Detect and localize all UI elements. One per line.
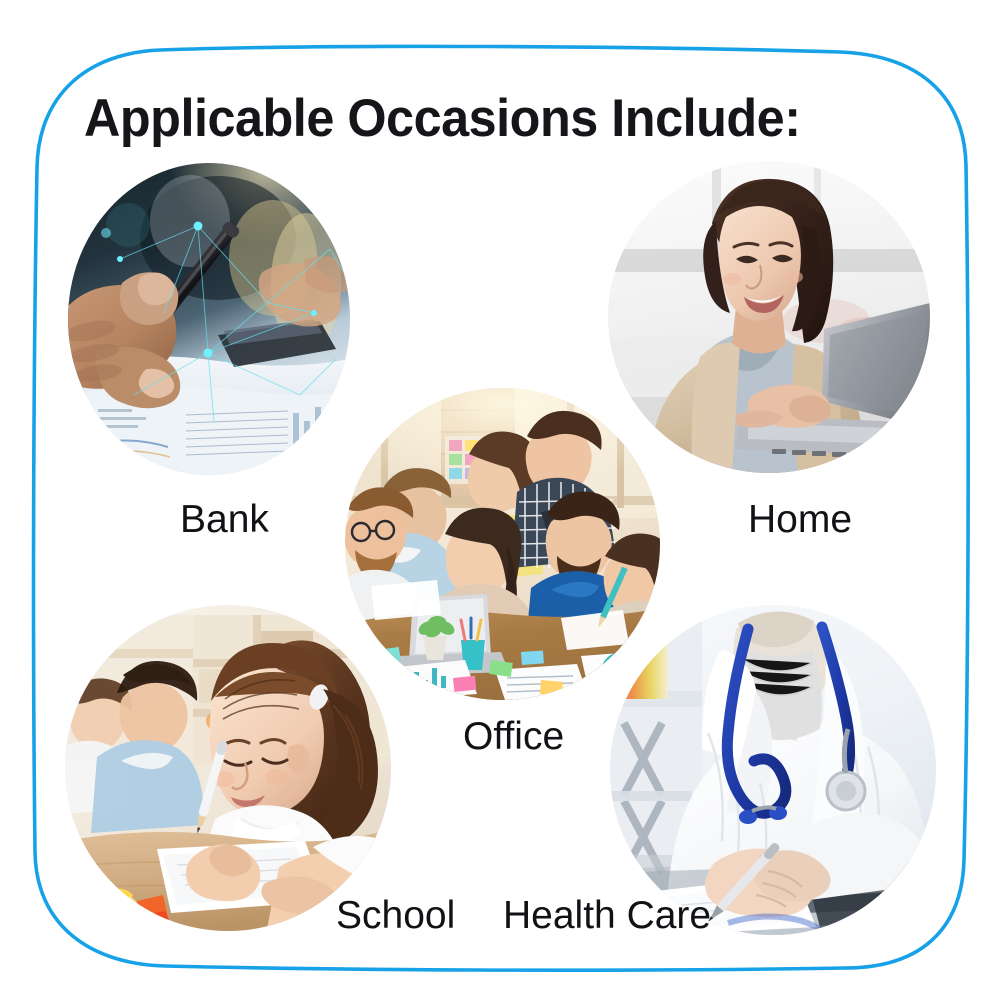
occasion-image-school [65, 605, 391, 931]
occasion-image-health-care [610, 605, 936, 935]
occasion-label-home: Home [748, 500, 852, 539]
occasion-label-health-care: Health Care [503, 896, 711, 935]
occasion-label-bank: Bank [180, 500, 269, 539]
occasion-image-office [345, 388, 660, 700]
occasion-label-office: Office [463, 717, 564, 756]
occasion-image-bank [68, 163, 350, 475]
occasion-image-home [608, 161, 930, 473]
occasion-label-school: School [336, 896, 455, 935]
page-title: Applicable Occasions Include: [84, 92, 801, 145]
promo-banner: Applicable Occasions Include: [0, 0, 1000, 1000]
